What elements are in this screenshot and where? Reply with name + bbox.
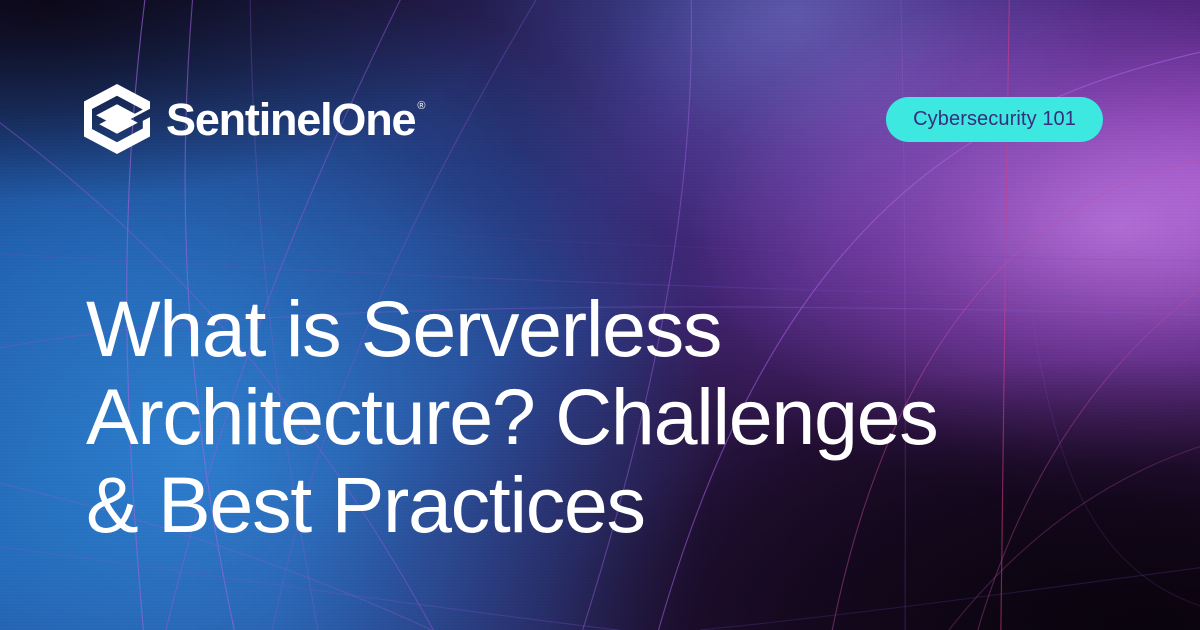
hero-title-line-1: What is Serverless bbox=[86, 285, 1106, 373]
registered-trademark-icon: ® bbox=[417, 101, 425, 112]
hero-title-line-3: & Best Practices bbox=[86, 461, 1106, 549]
brand-name: SentinelOne bbox=[166, 97, 415, 142]
sentinelone-hexagon-s-mark bbox=[84, 84, 150, 154]
social-card-banner: SentinelOne ® Cybersecurity 101 What is … bbox=[0, 0, 1200, 630]
sentinelone-wordmark: SentinelOne ® bbox=[166, 97, 425, 142]
hero-title-line-2: Architecture? Challenges bbox=[86, 373, 1106, 461]
hero-title: What is Serverless Architecture? Challen… bbox=[86, 285, 1106, 549]
sentinelone-logo[interactable]: SentinelOne ® bbox=[84, 84, 425, 154]
category-badge[interactable]: Cybersecurity 101 bbox=[886, 97, 1103, 142]
category-badge-label: Cybersecurity 101 bbox=[913, 108, 1076, 131]
